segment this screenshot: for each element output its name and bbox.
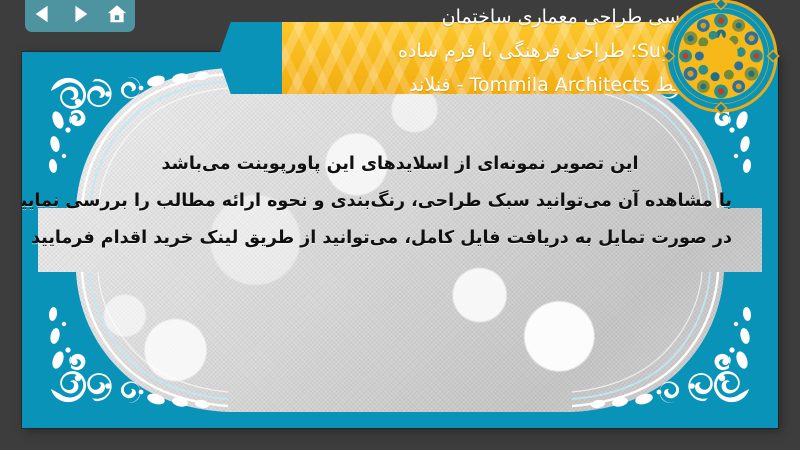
triangle-left-icon bbox=[32, 3, 54, 25]
home-icon bbox=[106, 3, 128, 25]
corner-ornament-bottom-left bbox=[38, 272, 228, 412]
body-line-1: این تصویر نمونه‌ای از اسلایدهای این پاور… bbox=[68, 146, 732, 183]
body-line-2: با مشاهده آن می‌توانید سبک طراحی، رنگ‌بن… bbox=[68, 183, 732, 220]
slide-body-text: این تصویر نمونه‌ای از اسلایدهای این پاور… bbox=[68, 146, 732, 257]
slide-canvas: بررسی طراحی معماری ساختمان Suyvas؛ طراحی… bbox=[0, 0, 800, 450]
back-button[interactable] bbox=[30, 1, 56, 27]
triangle-right-icon bbox=[69, 3, 91, 25]
home-button[interactable] bbox=[104, 1, 130, 27]
forward-button[interactable] bbox=[67, 1, 93, 27]
ornamental-medallion-icon bbox=[662, 0, 780, 115]
content-panel-surface: این تصویر نمونه‌ای از اسلایدهای این پاور… bbox=[38, 68, 762, 412]
navigation-bar bbox=[25, 0, 135, 32]
body-line-3: در صورت تمایل به دریافت فایل کامل، می‌تو… bbox=[68, 220, 732, 257]
corner-ornament-bottom-right bbox=[572, 272, 762, 412]
